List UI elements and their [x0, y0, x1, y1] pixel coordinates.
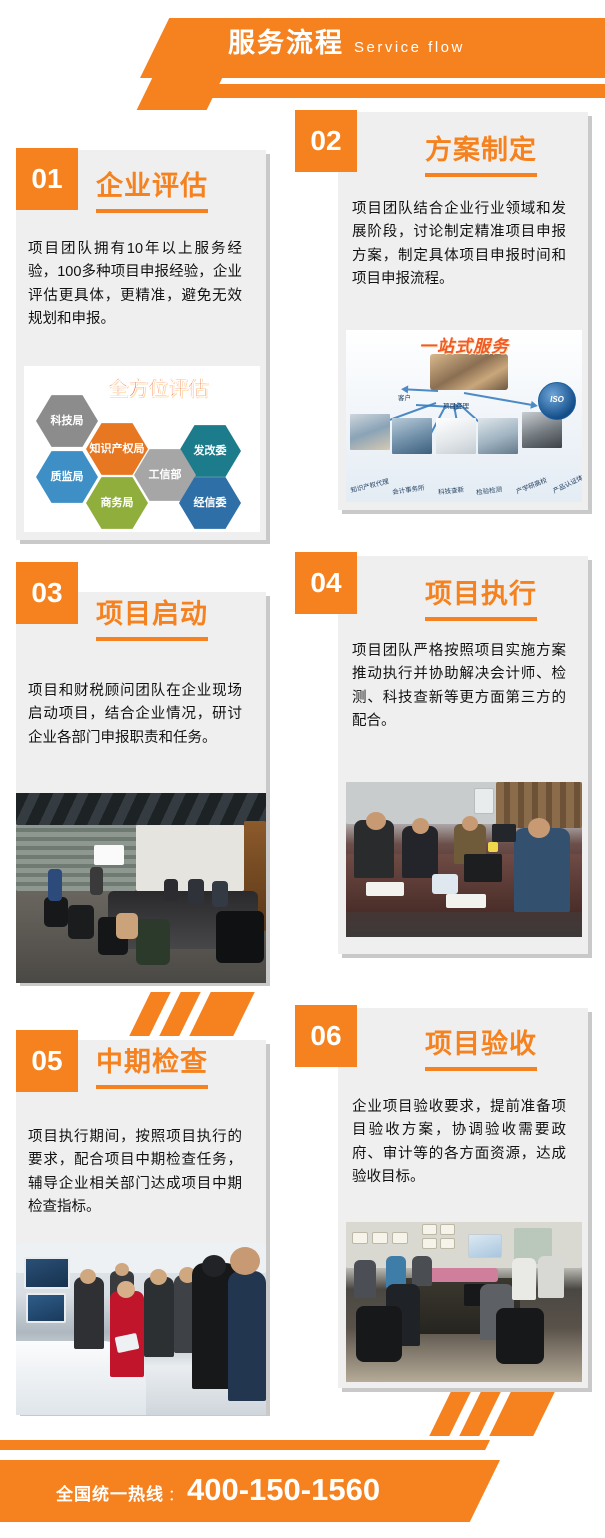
- hexagon-diagram: 全方位评估 科技局 知识产权局 发改委 质监局 工信部 商务局 经信委: [24, 366, 260, 532]
- step-figure-03: [16, 793, 266, 983]
- photo-person-blue-jacket: [228, 1271, 266, 1401]
- photo-person-2: [144, 1277, 174, 1357]
- service-hub-label-customer: 客户: [398, 392, 411, 402]
- photo-certificate-6: [440, 1238, 455, 1249]
- photo-person-6: [538, 1256, 564, 1298]
- hex-node-label: 工信部: [149, 469, 182, 482]
- service-label-row: 知识产权代理 会计事务所 科技查新 检验检测 产学研高校 产品认证体系: [346, 476, 582, 498]
- photo-paper-0: [366, 882, 404, 896]
- photo-monitor-0: [24, 1257, 70, 1289]
- hex-node-label: 知识产权局: [90, 443, 145, 456]
- photo-laptop-1: [492, 824, 516, 842]
- photo-projector-screen: [468, 1234, 502, 1258]
- page-title-cn: 服务流程: [228, 30, 344, 57]
- hex-node-label: 科技局: [51, 415, 84, 428]
- page-footer: 全国统一热线 ： 400-150-1560: [0, 1420, 605, 1538]
- footer-top-line-slant: [425, 1440, 490, 1450]
- photo-chair-0: [356, 1306, 402, 1362]
- footer-top-line: [0, 1440, 445, 1450]
- photo-person-blue: [48, 869, 62, 901]
- photo-chair-1: [496, 1308, 544, 1364]
- photo-head-1: [412, 818, 429, 834]
- photo-head-5: [230, 1247, 260, 1275]
- step-body-03: 项目和财税顾问团队在企业现场启动项目，结合企业情况，研讨企业各部门申报职责和任务…: [28, 680, 242, 750]
- service-thumb-0: [350, 414, 390, 450]
- hex-node-label: 发改委: [194, 445, 227, 458]
- photo-certificate-0: [352, 1232, 368, 1244]
- photo-whiteboard: [94, 845, 124, 865]
- photo-certificate-1: [372, 1232, 388, 1244]
- step-figure-04: [346, 782, 582, 937]
- service-diagram-caption: 一站式服务: [419, 332, 509, 357]
- photo-person-5: [512, 1258, 536, 1300]
- hotline-colon: ：: [168, 1484, 183, 1505]
- hex-node-label: 质监局: [51, 471, 84, 484]
- service-thumb-3: [478, 418, 518, 454]
- photo-person-2: [412, 1256, 432, 1286]
- photo-chair-far: [216, 911, 264, 963]
- conference-room-photo: [16, 793, 266, 983]
- step-number-badge-05: 05: [16, 1030, 78, 1092]
- step-number-badge-03: 03: [16, 562, 78, 624]
- photo-person-seated-0: [188, 879, 204, 905]
- hotline-label: 全国统一热线: [56, 1480, 164, 1505]
- step-title-04: 项目执行: [425, 572, 537, 621]
- hotline: 全国统一热线 ： 400-150-1560: [56, 1472, 380, 1508]
- step-number-badge-02: 02: [295, 110, 357, 172]
- photo-chair-1: [68, 905, 94, 939]
- photo-person-beige: [116, 913, 138, 939]
- photo-certificate-4: [440, 1224, 455, 1235]
- photo-head-1: [115, 1263, 129, 1276]
- photo-person-3: [514, 828, 570, 912]
- photo-certificate-2: [392, 1232, 408, 1244]
- step-title-01: 企业评估: [96, 164, 208, 213]
- photo-person-0: [74, 1277, 104, 1349]
- step-body-05: 项目执行期间，按照项目执行的要求，配合项目中期检查任务，辅导企业相关部门达成项目…: [28, 1126, 242, 1220]
- photo-sticky-note: [488, 842, 498, 852]
- service-thumb-2: [436, 418, 476, 454]
- step-figure-01: 全方位评估 科技局 知识产权局 发改委 质监局 工信部 商务局 经信委: [24, 366, 260, 532]
- photo-head-2: [462, 816, 478, 831]
- step-number-badge-01: 01: [16, 148, 78, 210]
- service-label-0: 知识产权代理: [349, 475, 389, 494]
- step-body-01: 项目团队拥有10年以上服务经验，100多种项目申报经验，企业评估更具体，更精准，…: [28, 238, 242, 332]
- service-label-3: 检验检测: [475, 483, 502, 497]
- step-title-06: 项目验收: [425, 1022, 537, 1071]
- hex-node-5: 商务局: [86, 476, 148, 530]
- step-title-02: 方案制定: [425, 128, 537, 177]
- service-label-1: 会计事务所: [391, 482, 425, 496]
- site-visit-photo: [16, 1243, 266, 1415]
- photo-chair-0: [44, 897, 68, 927]
- hex-node-label: 经信委: [194, 497, 227, 510]
- photo-monitor-1: [26, 1293, 66, 1323]
- step-title-05: 中期检查: [96, 1040, 208, 1089]
- photo-ceiling: [16, 793, 266, 825]
- step-figure-05: [16, 1243, 266, 1415]
- hex-node-0: 科技局: [36, 394, 98, 448]
- page-title: 服务流程 Service flow: [228, 30, 605, 76]
- photo-person-green: [136, 919, 170, 965]
- step-body-06: 企业项目验收要求，提前准备项目验收方案，协调验收需要政府、审计等的各方面资源，达…: [352, 1096, 566, 1190]
- step-title-03: 项目启动: [96, 592, 208, 641]
- step-number-badge-06: 06: [295, 1005, 357, 1067]
- page-header: 服务流程 Service flow: [0, 0, 605, 110]
- acceptance-meeting-photo: [346, 1222, 582, 1382]
- hex-node-3: 质监局: [36, 450, 98, 504]
- photo-person-dark: [90, 867, 103, 895]
- hotline-number: 400-150-1560: [187, 1472, 380, 1508]
- project-execution-photo: [346, 782, 582, 937]
- photo-certificate-5: [422, 1238, 437, 1249]
- photo-head-red: [117, 1281, 135, 1298]
- service-hub-label-manager: 项目经理: [443, 400, 469, 410]
- iso-seal-icon: [538, 382, 576, 420]
- hex-node-label: 商务局: [101, 497, 134, 510]
- page-title-en: Service flow: [354, 40, 465, 55]
- service-thumb-1: [392, 418, 432, 454]
- step-figure-02: 一站式服务 客户 项目经理 知识产权代理 会计事务所 科技查新 检验检测 产学研…: [346, 330, 582, 502]
- photo-person-0: [354, 1260, 376, 1298]
- photo-head-3: [528, 818, 550, 838]
- photo-ac-unit: [474, 788, 494, 814]
- photo-head-0: [80, 1269, 96, 1284]
- service-label-2: 科技查新: [438, 484, 465, 497]
- one-stop-service-diagram: 一站式服务 客户 项目经理 知识产权代理 会计事务所 科技查新 检验检测 产学研…: [346, 330, 582, 502]
- divider-chevron-1c: [189, 992, 254, 1036]
- step-body-02: 项目团队结合企业行业领域和发展阶段，讨论制定精准项目申报方案，制定具体项目申报时…: [352, 198, 566, 292]
- service-label-5: 产品认证体系: [551, 469, 582, 495]
- photo-person-seated-1: [212, 881, 228, 907]
- service-hub-photo: [430, 354, 508, 390]
- photo-certificate-3: [422, 1224, 437, 1235]
- step-number-badge-04: 04: [295, 552, 357, 614]
- photo-head-0: [366, 812, 386, 830]
- photo-head-2: [150, 1269, 167, 1285]
- photo-laptop-0: [464, 854, 502, 882]
- service-label-4: 产学研高校: [514, 474, 548, 495]
- photo-flowers: [422, 1268, 498, 1282]
- step-body-04: 项目团队严格按照项目实施方案推动执行并协助解决会计师、检测、科技查新等更方面第三…: [352, 640, 566, 734]
- service-flow-infographic: 服务流程 Service flow 01 企业评估 项目团队拥有10年以上服务经…: [0, 0, 605, 1538]
- service-arrow-2: [464, 392, 533, 406]
- hexagon-diagram-caption: 全方位评估: [108, 372, 208, 401]
- photo-head-4: [202, 1255, 226, 1277]
- step-figure-06: [346, 1222, 582, 1382]
- photo-person-seated-2: [164, 879, 178, 901]
- header-underline-band: [155, 84, 605, 98]
- photo-paper-1: [446, 894, 486, 908]
- photo-bag: [432, 874, 458, 894]
